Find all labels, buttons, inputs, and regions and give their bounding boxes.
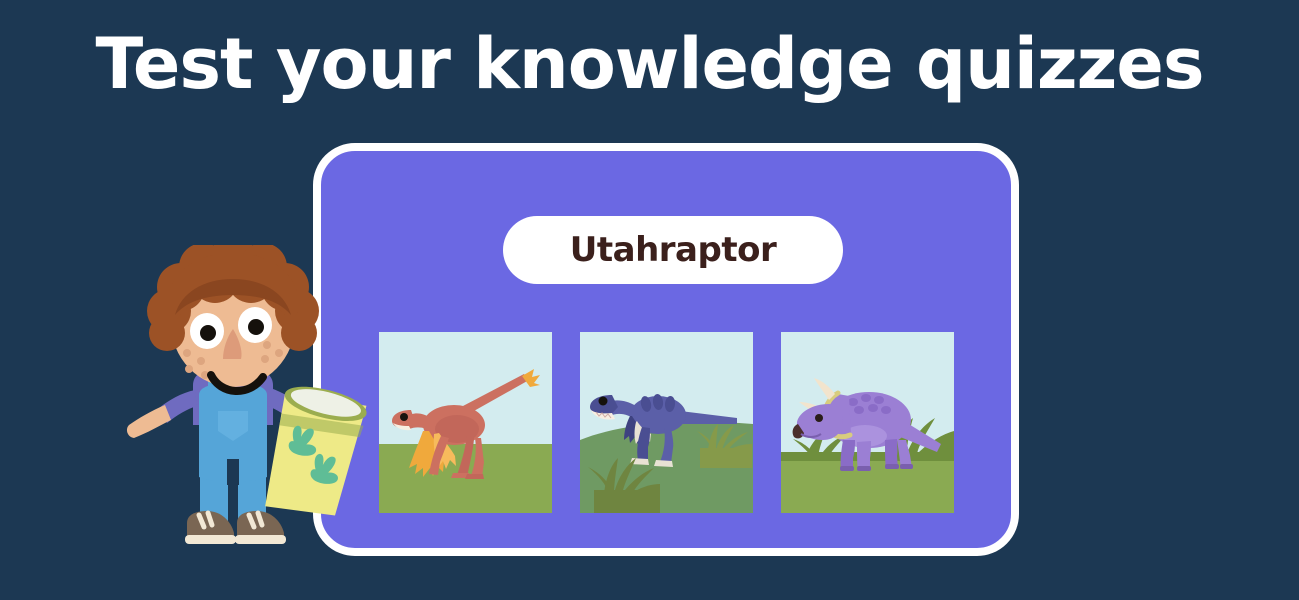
boy-with-cup-illustration (115, 245, 415, 575)
answer-pill[interactable]: Utahraptor (503, 216, 843, 284)
blue-theropod-illustration (580, 332, 753, 513)
purple-triceratops-illustration (781, 332, 954, 513)
page-title: Test your knowledge quizzes (0, 28, 1299, 102)
quiz-panel: Utahraptor (313, 143, 1019, 556)
boy-character (115, 245, 415, 575)
quiz-card-option-2[interactable] (580, 332, 753, 513)
quiz-card-row (321, 332, 1011, 513)
shoe-left (185, 511, 236, 544)
answer-label: Utahraptor (570, 230, 776, 270)
quiz-card-option-3[interactable] (781, 332, 954, 513)
shoe-right (235, 511, 286, 544)
